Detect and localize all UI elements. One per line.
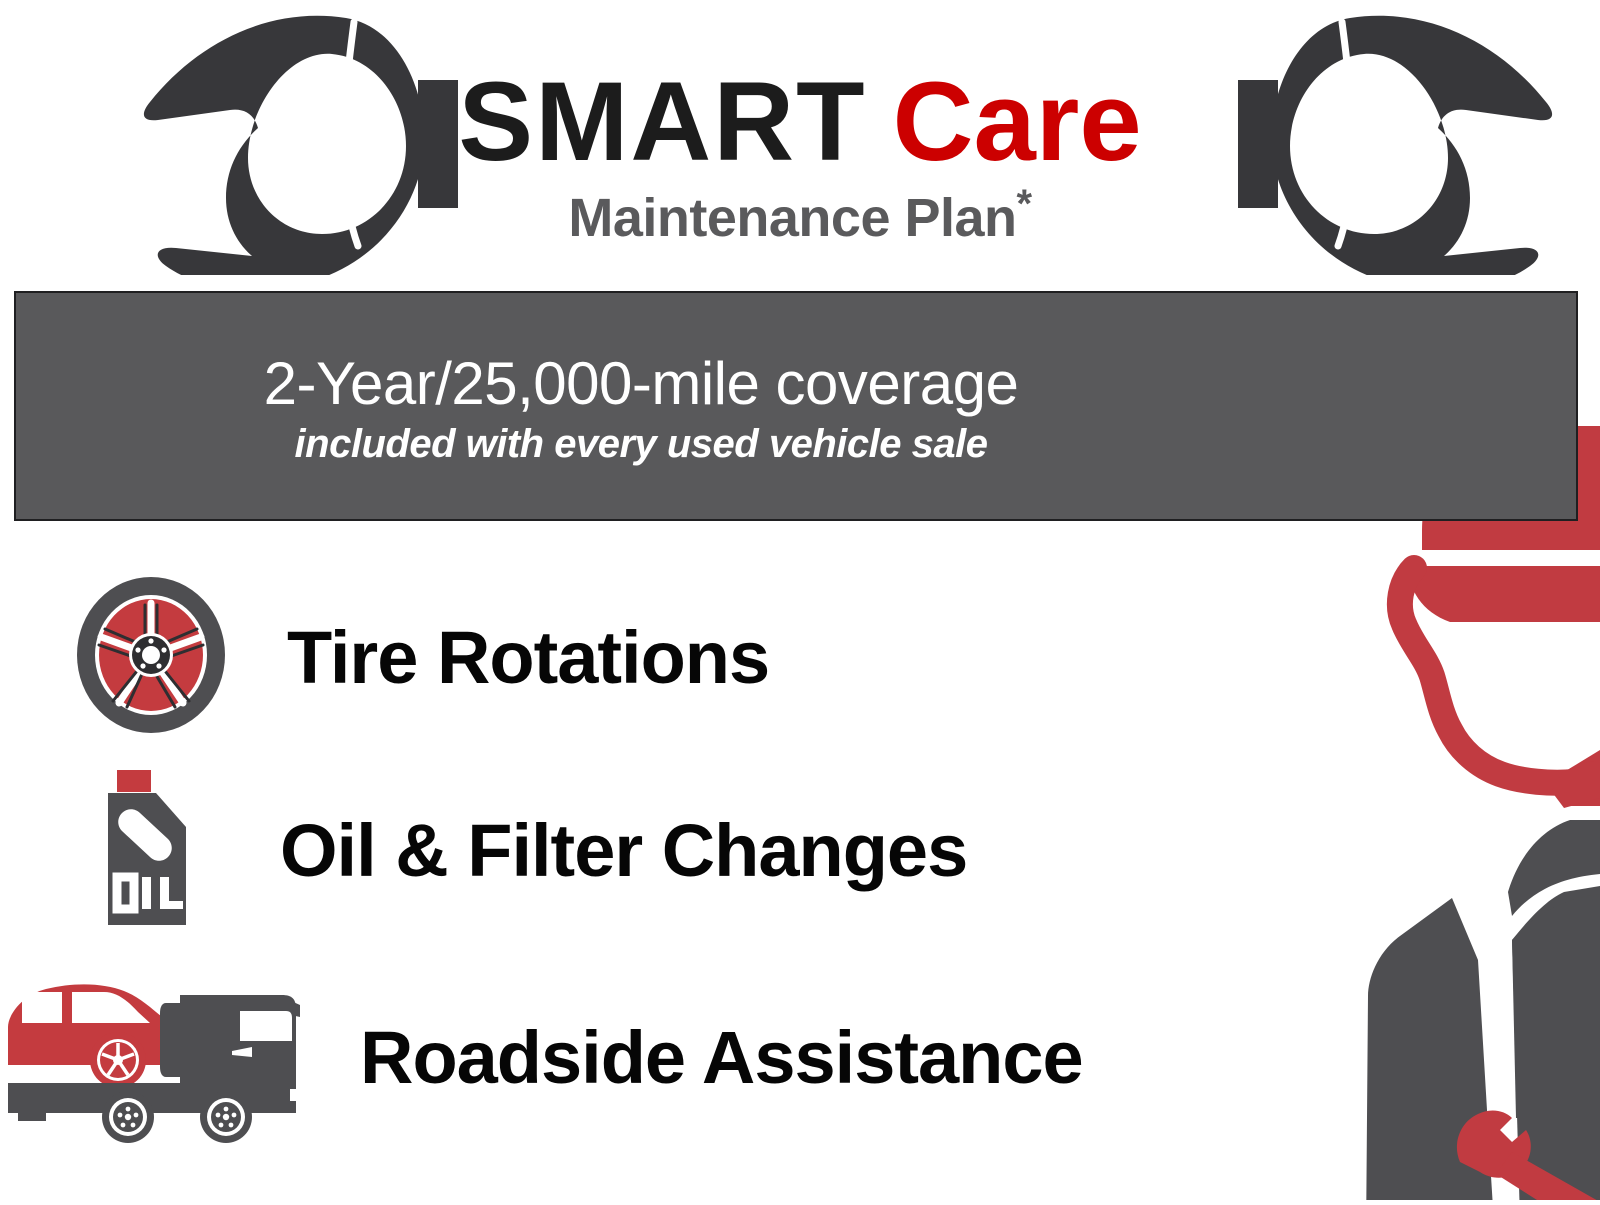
list-item: Roadside Assistance bbox=[0, 965, 1083, 1150]
coverage-subheadline: included with every used vehicle sale bbox=[295, 422, 988, 467]
asterisk-mark: * bbox=[1017, 182, 1032, 226]
coverage-banner-text: 2-Year/25,000-mile coverage included wit… bbox=[16, 293, 1266, 523]
feature-label: Tire Rotations bbox=[287, 615, 769, 700]
feature-label: Roadside Assistance bbox=[360, 1015, 1083, 1100]
logo-header: SMARTCare Maintenance Plan* bbox=[0, 0, 1600, 285]
coverage-banner: 2-Year/25,000-mile coverage included wit… bbox=[14, 291, 1578, 521]
tow-truck-icon bbox=[0, 965, 320, 1150]
list-item: Oil & Filter Changes bbox=[90, 765, 967, 935]
brand-subtitle: Maintenance Plan* bbox=[0, 184, 1600, 245]
feature-list: Tire Rotations Oil & Filter Changes bbox=[0, 540, 1200, 1200]
logo-wordmark: SMARTCare Maintenance Plan* bbox=[0, 66, 1600, 245]
brand-title: SMARTCare bbox=[0, 66, 1600, 178]
feature-label: Oil & Filter Changes bbox=[280, 808, 967, 893]
tire-wheel-icon bbox=[75, 575, 227, 740]
coverage-headline: 2-Year/25,000-mile coverage bbox=[264, 349, 1019, 418]
brand-subtitle-text: Maintenance Plan bbox=[568, 188, 1016, 248]
list-item: Tire Rotations bbox=[75, 575, 769, 740]
oil-bottle-icon bbox=[90, 765, 202, 935]
brand-word-care: Care bbox=[893, 59, 1142, 184]
brand-word-smart: SMART bbox=[458, 59, 866, 184]
